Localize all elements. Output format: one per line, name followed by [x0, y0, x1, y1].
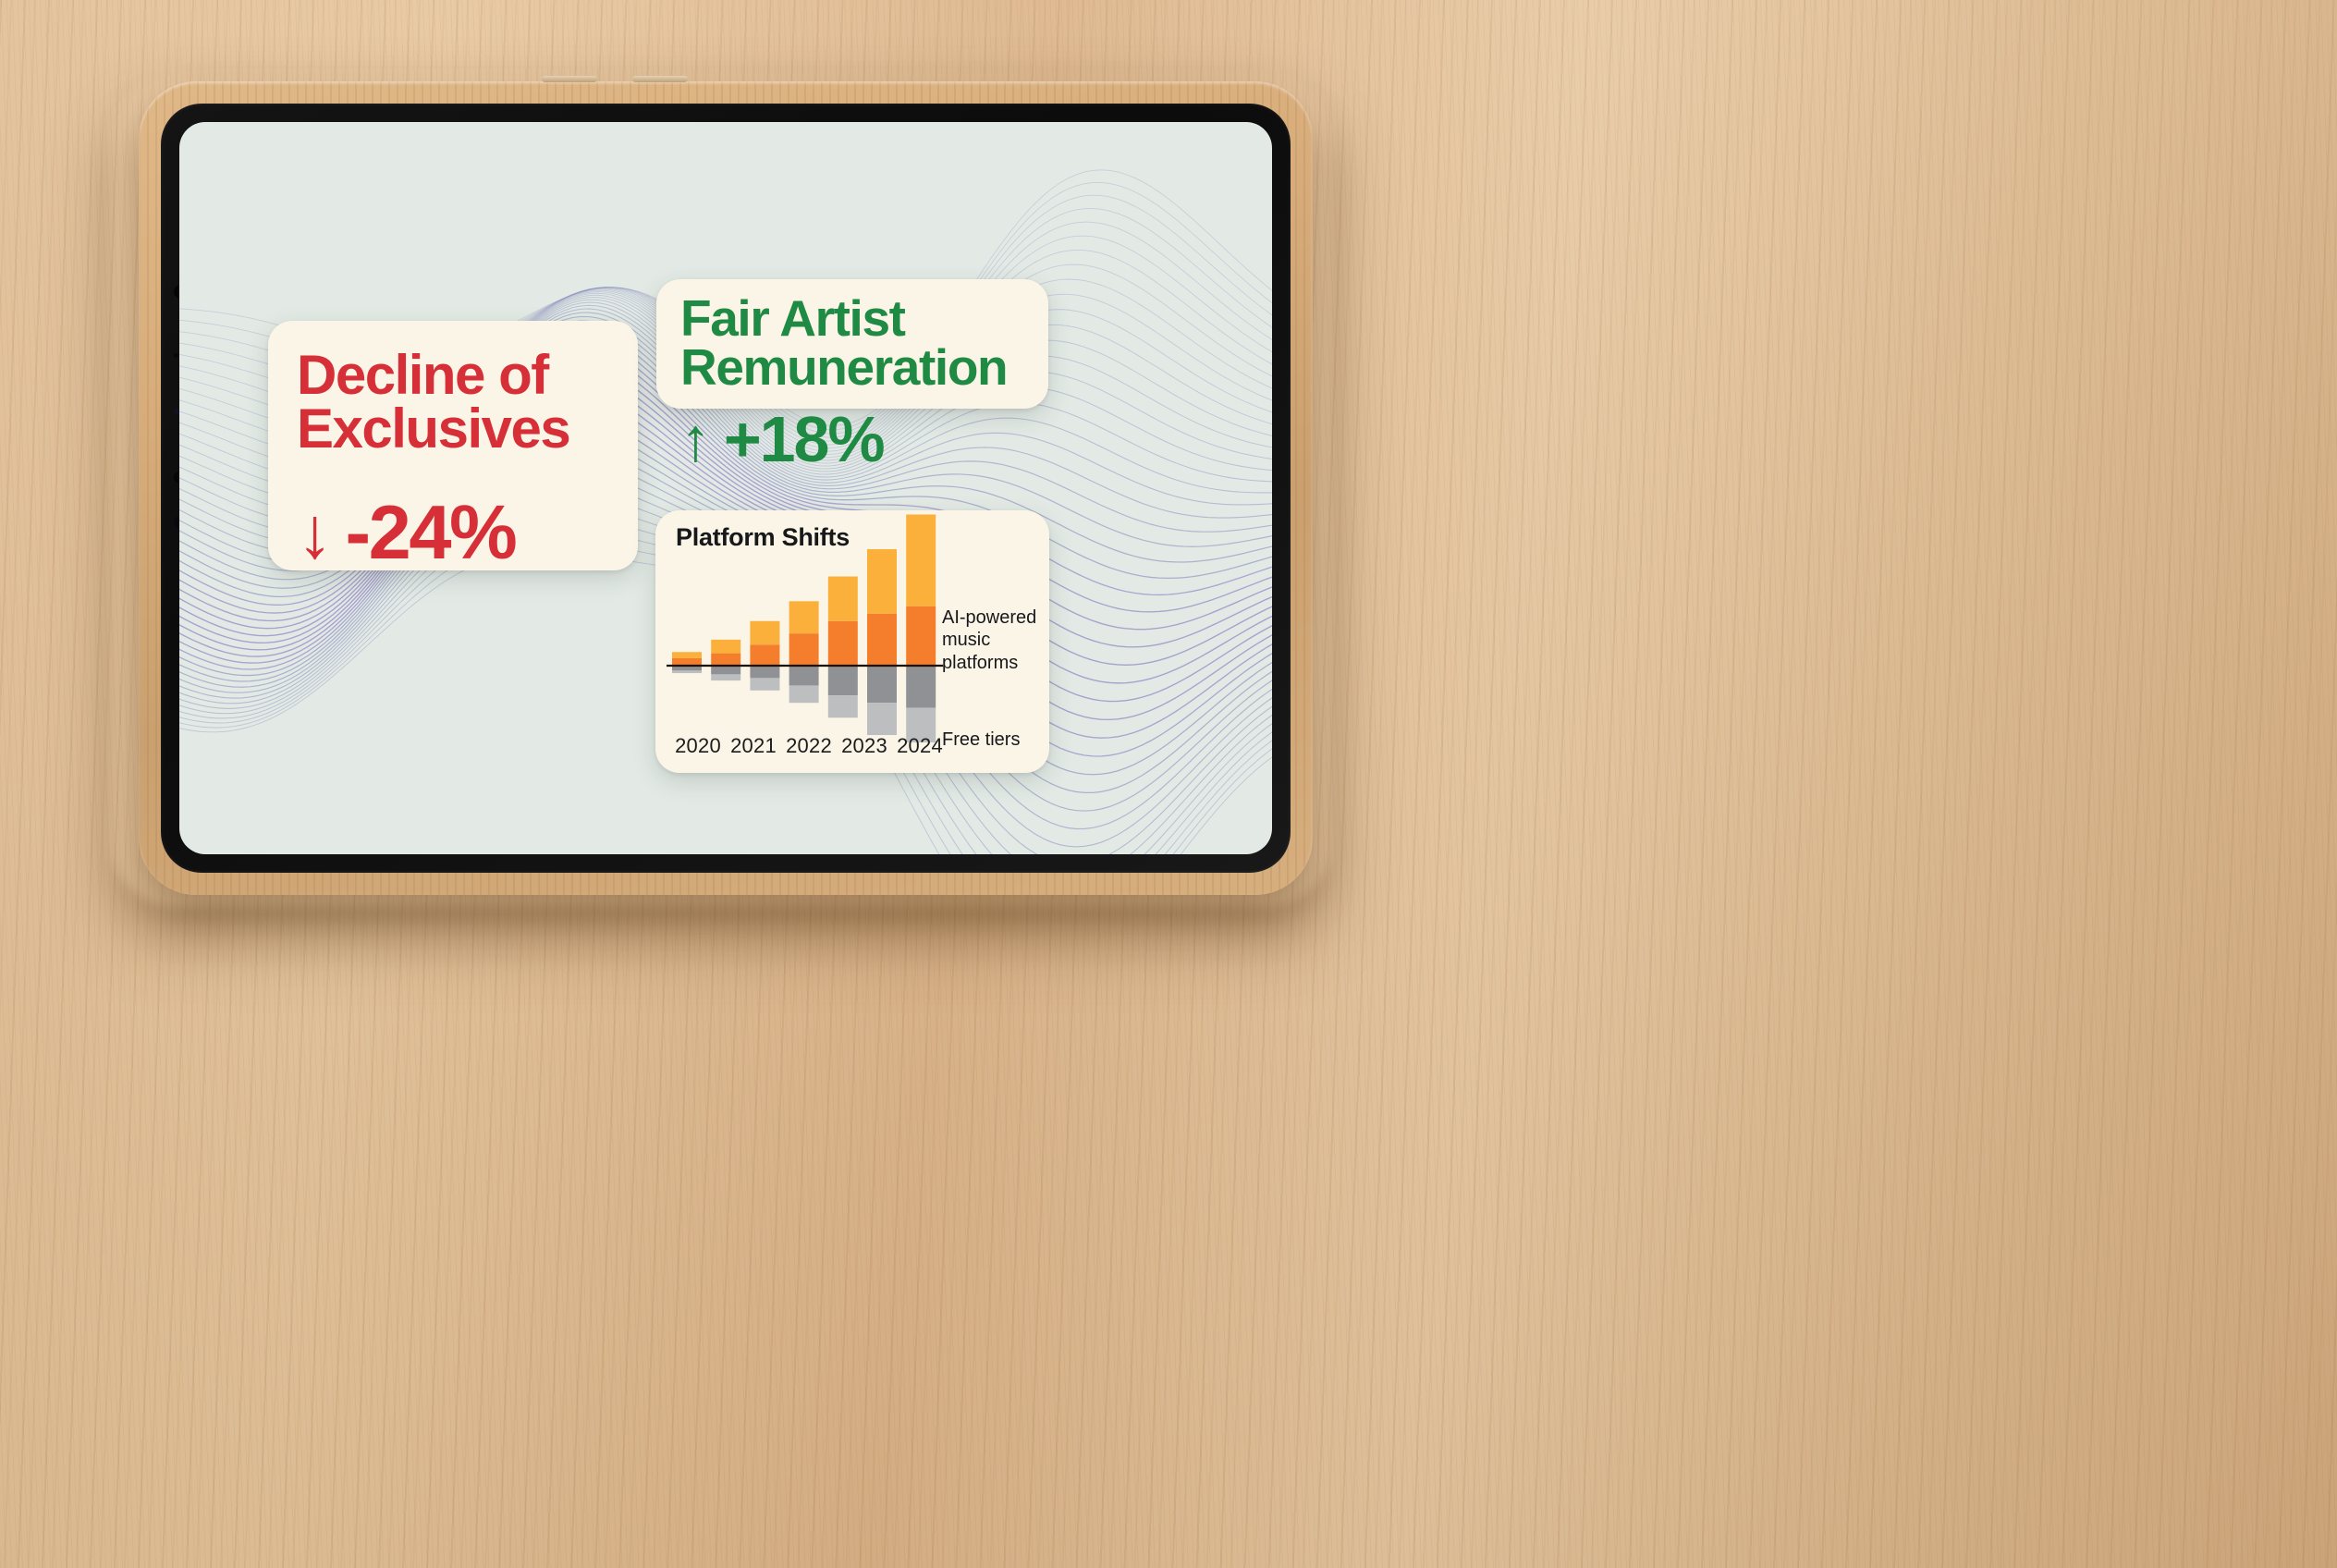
tablet-bezel: Decline of Exclusives ↓ -24% Fair Artist — [161, 104, 1291, 873]
tablet-device: Decline of Exclusives ↓ -24% Fair Artist — [139, 81, 1313, 895]
bar-segment — [750, 621, 779, 644]
x-axis-label-2024: 2024 — [892, 734, 948, 758]
bar-segment — [750, 666, 779, 678]
remuneration-card-title: Fair Artist Remuneration — [680, 294, 1048, 392]
bar-segment — [711, 654, 740, 666]
bar-segment — [867, 666, 897, 703]
bar-segment — [750, 644, 779, 666]
decline-title-line1: Decline of — [297, 349, 638, 402]
bar-segment — [711, 640, 740, 654]
decline-title-line2: Exclusives — [297, 402, 638, 456]
fair-artist-remuneration-card[interactable]: Fair Artist Remuneration ↑ +18% — [656, 279, 1048, 409]
top-button-2[interactable] — [632, 76, 688, 82]
bar-segment — [789, 633, 819, 666]
bar-segment — [867, 703, 897, 735]
chart-x-axis-labels: 2020 2021 2022 2023 2024 — [670, 734, 948, 758]
bar-segment — [828, 695, 858, 717]
bar-segment — [789, 685, 819, 703]
decline-stat-value: ↓ -24% — [297, 494, 638, 570]
bar-segment — [906, 666, 936, 708]
remuneration-title-line2: Remuneration — [680, 343, 1048, 392]
arrow-down-icon: ↓ — [297, 496, 331, 569]
top-button-1[interactable] — [542, 76, 597, 82]
ambient-light-sensor-icon — [174, 353, 178, 358]
arrow-up-icon: ↑ — [680, 409, 709, 470]
bar-segment — [867, 549, 897, 614]
remuneration-title-line1: Fair Artist — [680, 294, 1048, 343]
bar-segment — [867, 614, 897, 666]
scene: Decline of Exclusives ↓ -24% Fair Artist — [0, 0, 2337, 1568]
bar-segment — [750, 678, 779, 690]
x-axis-label-2021: 2021 — [726, 734, 781, 758]
bar-segment — [906, 606, 936, 666]
remuneration-percentage: +18% — [724, 407, 884, 472]
legend-ai-line2: music platforms — [942, 629, 1051, 674]
bar-segment — [672, 658, 702, 666]
decline-card-title: Decline of Exclusives — [297, 349, 638, 455]
bar-segment — [789, 666, 819, 685]
bar-segment — [789, 601, 819, 633]
chart-bars — [672, 515, 936, 743]
bar-segment — [828, 666, 858, 695]
bar-segment — [672, 652, 702, 658]
x-axis-label-2023: 2023 — [837, 734, 892, 758]
x-axis-label-2022: 2022 — [781, 734, 837, 758]
bar-segment — [672, 670, 702, 673]
x-axis-label-2020: 2020 — [670, 734, 726, 758]
bar-segment — [828, 577, 858, 621]
bar-segment — [906, 515, 936, 606]
remuneration-stat-value: ↑ +18% — [680, 407, 1048, 472]
decline-percentage: -24% — [346, 494, 516, 570]
legend-ai-line1: AI-powered — [942, 606, 1051, 629]
legend-free-tiers: Free tiers — [942, 729, 1051, 751]
platform-shifts-chart-card[interactable]: Platform Shifts 2020 2021 2022 2023 2024… — [655, 510, 1049, 773]
bar-segment — [711, 666, 740, 674]
legend-ai-platforms: AI-powered music platforms — [942, 606, 1051, 674]
bar-segment — [828, 621, 858, 666]
bar-segment — [711, 674, 740, 680]
tablet-screen[interactable]: Decline of Exclusives ↓ -24% Fair Artist — [179, 122, 1272, 854]
decline-of-exclusives-card[interactable]: Decline of Exclusives ↓ -24% — [268, 321, 638, 570]
